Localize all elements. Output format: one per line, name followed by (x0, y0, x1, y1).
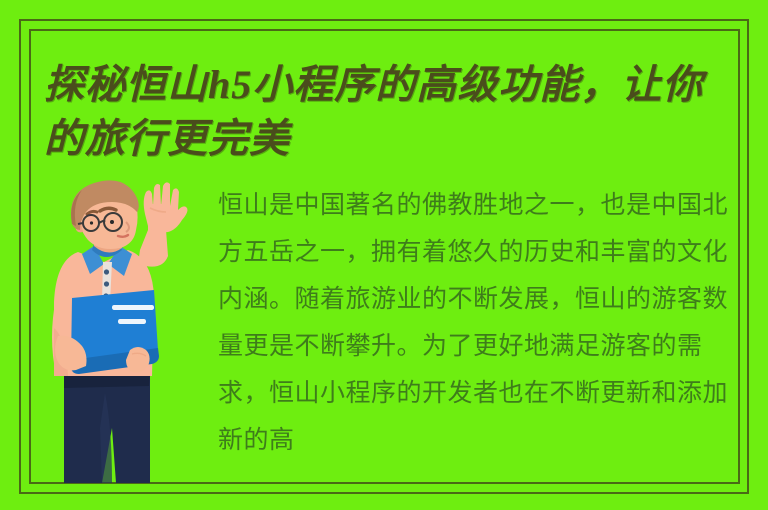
waistband-shape (64, 374, 150, 388)
article-body: 恒山是中国著名的佛教胜地之一，也是中国北方五岳之一，拥有着悠久的历史和丰富的文化… (218, 182, 738, 464)
book-label-line-2 (118, 319, 146, 324)
pupil-right (110, 220, 114, 224)
waving-hand (144, 182, 188, 232)
pupil-left (90, 221, 93, 224)
upper-arm-right (138, 230, 168, 267)
shirt-button-1 (104, 269, 109, 274)
poster-canvas: 探秘恒山h5小程序的高级功能，让你的旅行更完美 (0, 0, 768, 510)
page-title: 探秘恒山h5小程序的高级功能，让你的旅行更完美 (44, 58, 734, 166)
book-label-line-1 (112, 305, 154, 310)
illustration-waving-man (42, 178, 224, 483)
shirt-button-2 (104, 281, 109, 286)
